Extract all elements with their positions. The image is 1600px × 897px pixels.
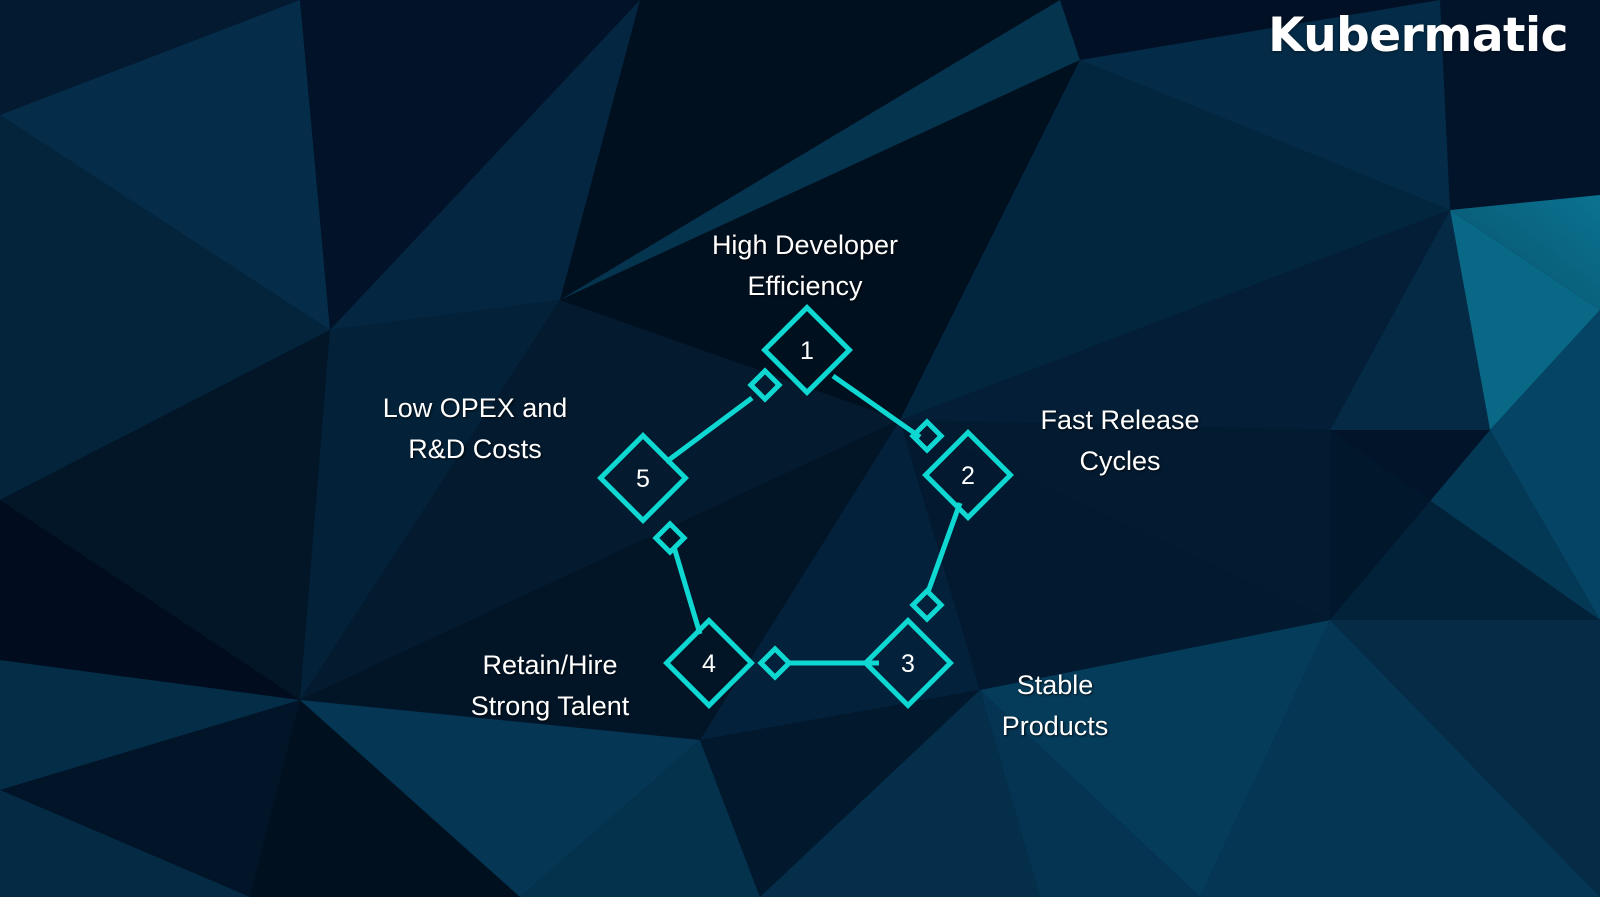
connector-4-5	[656, 524, 700, 634]
node-label-5: Low OPEX and R&D Costs	[330, 388, 620, 470]
connector-1-2	[833, 376, 941, 450]
arrow-marker-3-4	[761, 649, 789, 677]
connector-2-3	[913, 503, 960, 619]
node-label-1: High Developer Efficiency	[640, 225, 970, 307]
node-diamond-4[interactable]: 4	[667, 621, 752, 706]
cycle-diagram: 1 2 3 4 5	[0, 0, 1600, 897]
slide-canvas: 1 2 3 4 5 High Developer Efficiency Fast…	[0, 0, 1600, 897]
node-number-1: 1	[800, 337, 814, 365]
arrow-marker-5-1	[751, 371, 779, 399]
arrow-marker-4-5	[656, 524, 684, 552]
connector-5-1	[666, 371, 779, 462]
node-number-2: 2	[961, 462, 975, 490]
node-label-3: Stable Products	[930, 665, 1180, 747]
arrow-marker-2-3	[913, 591, 941, 619]
connector-3-4	[761, 649, 879, 677]
node-label-4: Retain/Hire Strong Talent	[425, 645, 675, 727]
node-label-2: Fast Release Cycles	[995, 400, 1245, 482]
kubermatic-logo: Kubermatic	[1268, 8, 1568, 63]
node-number-5: 5	[636, 465, 650, 493]
node-number-4: 4	[702, 650, 716, 678]
node-number-3: 3	[901, 650, 915, 678]
